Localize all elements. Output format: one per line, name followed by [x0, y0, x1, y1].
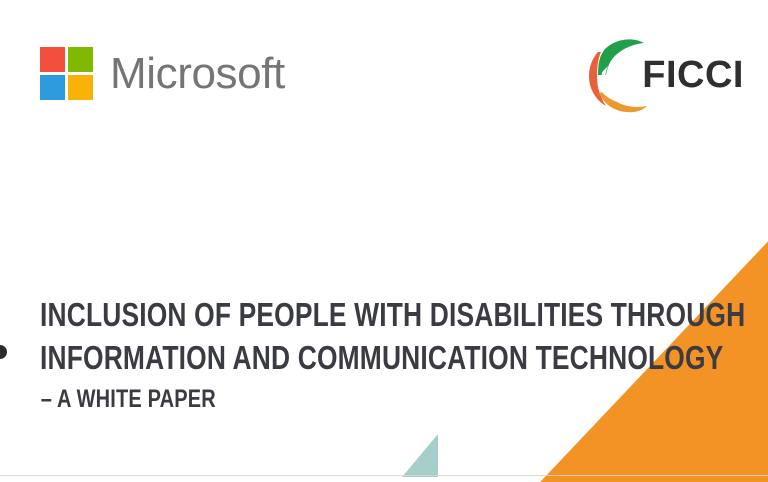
page-title: Inclusion of people with disabilities th… [40, 293, 680, 419]
page-title-line-2: Information and Communication Technology [40, 336, 552, 379]
page-subtitle: – A White Paper [40, 379, 552, 419]
ficci-swoosh-icon [586, 36, 648, 114]
microsoft-square-blue [40, 75, 65, 100]
page-title-line-1: Inclusion of people with disabilities th… [40, 293, 552, 336]
left-edge-dot-decoration [0, 345, 7, 359]
report-cover-page: Microsoft FICCI Inclusion of people with… [0, 0, 768, 482]
microsoft-wordmark: Microsoft [110, 52, 285, 96]
microsoft-square-yellow [68, 75, 93, 100]
microsoft-square-green [68, 47, 93, 72]
microsoft-logo-icon [40, 47, 93, 100]
microsoft-logo-lockup: Microsoft [40, 47, 285, 100]
ficci-logo-lockup: FICCI [586, 36, 744, 114]
teal-triangle-decoration [402, 434, 438, 477]
microsoft-square-red [40, 47, 65, 72]
ficci-wordmark: FICCI [642, 56, 744, 94]
footer-divider-rule [0, 475, 768, 476]
